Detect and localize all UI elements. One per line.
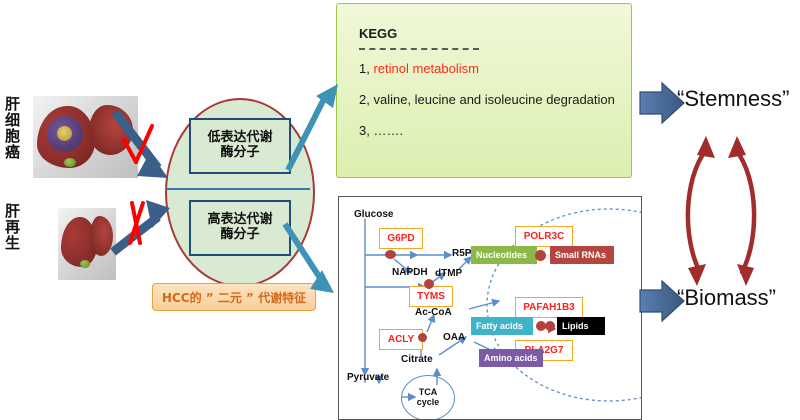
kegg-title: KEGG xyxy=(359,26,631,41)
kegg-item-2-number: 2, xyxy=(359,92,370,107)
enzyme-dot-acly xyxy=(418,333,427,342)
metabolite-r5p: R5P xyxy=(452,248,471,259)
gallbladder xyxy=(80,260,90,268)
metabolite-citrate: Citrate xyxy=(401,354,433,365)
enzyme-dot-g6pd xyxy=(385,250,396,259)
tca-cycle-node: TCA cycle xyxy=(401,375,455,420)
metabolite-napdh: NAPDH xyxy=(392,267,428,278)
product-lipids: Lipids xyxy=(557,317,605,335)
kegg-item-1: 1, retinol metabolism xyxy=(359,61,631,76)
liver-normal-image xyxy=(58,208,116,280)
gene-g6pd[interactable]: G6PD xyxy=(379,228,423,249)
gene-tyms[interactable]: TYMS xyxy=(409,286,453,307)
product-nucleotides: Nucleotides xyxy=(471,246,537,264)
metabolite-ac-coa: Ac-CoA xyxy=(415,307,452,318)
metabolite-glucose: Glucose xyxy=(354,209,393,220)
low-expression-line1: 低表达代谢 xyxy=(207,130,272,145)
metabolite-dtmp: dTMP xyxy=(435,268,462,279)
bidirectional-curved-arrow xyxy=(688,150,754,272)
kegg-divider xyxy=(359,48,479,50)
outcome-stemness: “Stemness” xyxy=(677,86,789,112)
kegg-item-1-number: 1, xyxy=(359,61,370,76)
kegg-item-3: 3, ……. xyxy=(359,123,631,138)
hcc-dual-metabolism-caption: HCC的 ” 二元 ” 代谢特征 xyxy=(152,283,316,311)
gene-polr3c[interactable]: POLR3C xyxy=(515,226,573,247)
tca-line1: TCA xyxy=(419,387,438,397)
enzyme-dot-tyms xyxy=(424,279,434,289)
kegg-panel: KEGG 1, retinol metabolism 2, valine, le… xyxy=(336,3,632,178)
label-hepatocellular-carcinoma: 肝细胞癌 xyxy=(4,96,19,160)
label-liver-regeneration: 肝再生 xyxy=(4,203,19,251)
red-cross-lower xyxy=(130,203,143,243)
high-expression-enzyme-box[interactable]: 高表达代谢 酶分子 xyxy=(189,200,291,256)
metabolite-pyruvate: Pyruvate xyxy=(347,372,389,383)
kegg-item-2-text: valine, leucine and isoleucine degradati… xyxy=(373,92,614,107)
product-fatty-acids: Fatty acids xyxy=(471,317,533,335)
high-expression-line1: 高表达代谢 xyxy=(207,212,272,227)
enzyme-dot-pla2g7 xyxy=(545,321,555,331)
metabolite-oaa: OAA xyxy=(443,332,465,343)
curved-arrow-heads xyxy=(688,136,754,286)
low-expression-enzyme-box[interactable]: 低表达代谢 酶分子 xyxy=(189,118,291,174)
kegg-item-3-number: 3, xyxy=(359,123,370,138)
gene-pafah1b3[interactable]: PAFAH1B3 xyxy=(515,297,583,318)
outcome-biomass: “Biomass” xyxy=(677,285,776,311)
kegg-item-2: 2, valine, leucine and isoleucine degrad… xyxy=(359,92,631,107)
ellipse-divider xyxy=(166,188,310,190)
liver-tumor-image xyxy=(33,96,138,178)
kegg-item-3-text: ……. xyxy=(373,123,403,138)
high-expression-line2: 酶分子 xyxy=(220,227,259,242)
metabolic-pathway-panel: Glucose R5P NAPDH dTMP Ac-CoA OAA Citrat… xyxy=(338,196,642,420)
tca-line2: cycle xyxy=(417,397,440,407)
gene-acly[interactable]: ACLY xyxy=(379,329,423,350)
product-amino-acids: Amino acids xyxy=(479,349,543,367)
enzyme-dot-polr3c xyxy=(535,250,546,261)
kegg-item-1-text: retinol metabolism xyxy=(373,61,479,76)
tumor-core xyxy=(57,126,72,141)
low-expression-line2: 酶分子 xyxy=(220,145,259,160)
gallbladder xyxy=(64,158,76,167)
arrow-regeneration-to-ellipse xyxy=(113,200,170,252)
product-small-rnas: Small RNAs xyxy=(550,246,614,264)
